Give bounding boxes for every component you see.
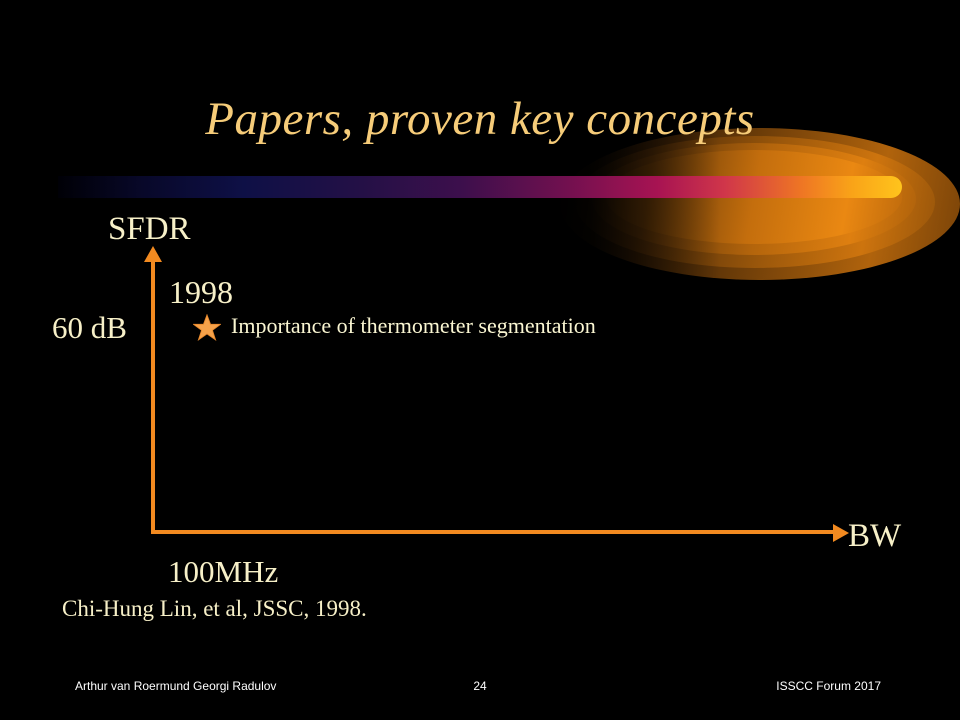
y-axis-label: SFDR <box>108 211 191 248</box>
y-axis-tick-label: 60 dB <box>52 310 127 346</box>
footer-event: ISSCC Forum 2017 <box>776 679 881 693</box>
decorative-glow-fade-mask <box>520 120 720 295</box>
decorative-glow-band-outer <box>560 128 960 280</box>
arrow-right-icon <box>833 524 849 542</box>
x-axis-tick-label: 100MHz <box>168 554 278 590</box>
y-axis-line <box>151 258 155 534</box>
slide-footer: Arthur van Roermund Georgi Radulov 24 IS… <box>0 679 960 699</box>
decorative-spectrum-bar <box>58 176 902 198</box>
citation-text: Chi-Hung Lin, et al, JSSC, 1998. <box>62 596 367 622</box>
slide-title: Papers, proven key concepts <box>0 92 960 146</box>
decorative-glow-band-mid-inner <box>592 143 916 255</box>
data-point-annotation: Importance of thermometer segmentation <box>231 313 596 339</box>
x-axis-line <box>151 530 837 534</box>
decorative-glow-band-mid-outer <box>575 136 935 268</box>
data-point-year-label: 1998 <box>169 274 233 311</box>
x-axis-label: BW <box>848 518 901 555</box>
slide-canvas: Papers, proven key concepts SFDR 60 dB B… <box>0 0 960 720</box>
arrow-up-icon <box>144 246 162 262</box>
star-icon <box>193 314 221 342</box>
